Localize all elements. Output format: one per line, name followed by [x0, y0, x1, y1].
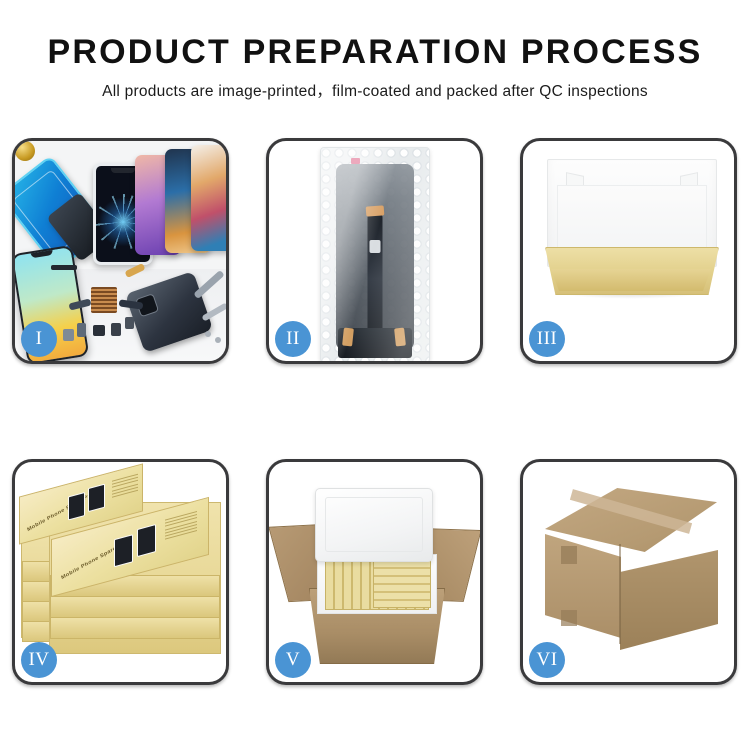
- connector-grid-part-icon: [91, 287, 117, 313]
- carton-tab-icon: [561, 610, 577, 626]
- small-part-icon: [63, 329, 74, 341]
- spec-lines: [165, 511, 197, 542]
- small-part-icon: [111, 323, 121, 336]
- phone-notch-icon: [111, 168, 135, 173]
- step-panel-1[interactable]: I: [12, 138, 229, 364]
- page-title: PRODUCT PREPARATION PROCESS: [0, 34, 750, 70]
- carton-tab-icon: [561, 546, 577, 564]
- small-part-icon: [125, 317, 134, 329]
- yellow-boxes-contents-icon: [373, 560, 431, 608]
- step-badge-5: V: [275, 642, 311, 678]
- step-badge-3: III: [529, 321, 565, 357]
- bubble-wrap-bag-icon: [320, 147, 430, 361]
- yellow-box-front-face: [551, 269, 711, 291]
- page-header: PRODUCT PREPARATION PROCESS All products…: [0, 0, 750, 101]
- process-steps-grid: I II: [12, 138, 738, 693]
- step-badge-2: II: [275, 321, 311, 357]
- step-badge-4: IV: [21, 642, 57, 678]
- step-badge-6: VI: [529, 642, 565, 678]
- carton-front-face: [545, 534, 621, 638]
- box-layer: [50, 596, 220, 618]
- step-panel-3[interactable]: III: [520, 138, 737, 364]
- gradient-phone-icon: [191, 145, 226, 251]
- box-layer: [50, 617, 220, 639]
- small-part-icon: [93, 325, 105, 336]
- step-panel-5[interactable]: V: [266, 459, 483, 685]
- screw-icon: [205, 331, 211, 337]
- carton-side-face: [620, 550, 718, 650]
- carton-edge-seam: [619, 544, 621, 644]
- foam-lid-icon: [315, 488, 433, 562]
- screen-print-icon: [68, 492, 85, 521]
- step-badge-1: I: [21, 321, 57, 357]
- box-inner-wall: [557, 185, 707, 253]
- screen-print-icon: [114, 534, 133, 567]
- step-panel-2[interactable]: II: [266, 138, 483, 364]
- step-panel-4[interactable]: Mobile Phone Spare Parts Mobile Phone Sp…: [12, 459, 229, 685]
- step-panel-6[interactable]: VI: [520, 459, 737, 685]
- product-preparation-infographic: PRODUCT PREPARATION PROCESS All products…: [0, 0, 750, 750]
- spec-lines: [112, 474, 138, 500]
- screw-icon: [215, 337, 221, 343]
- earpiece-speaker-part-icon: [51, 265, 77, 270]
- small-part-icon: [77, 323, 86, 337]
- plastic-gloss-overlay: [321, 148, 429, 361]
- copper-coil-part-icon: [15, 141, 35, 161]
- screen-print-icon: [88, 484, 105, 513]
- screen-print-icon: [137, 524, 156, 557]
- page-subtitle: All products are image-printed，film-coat…: [0, 79, 750, 101]
